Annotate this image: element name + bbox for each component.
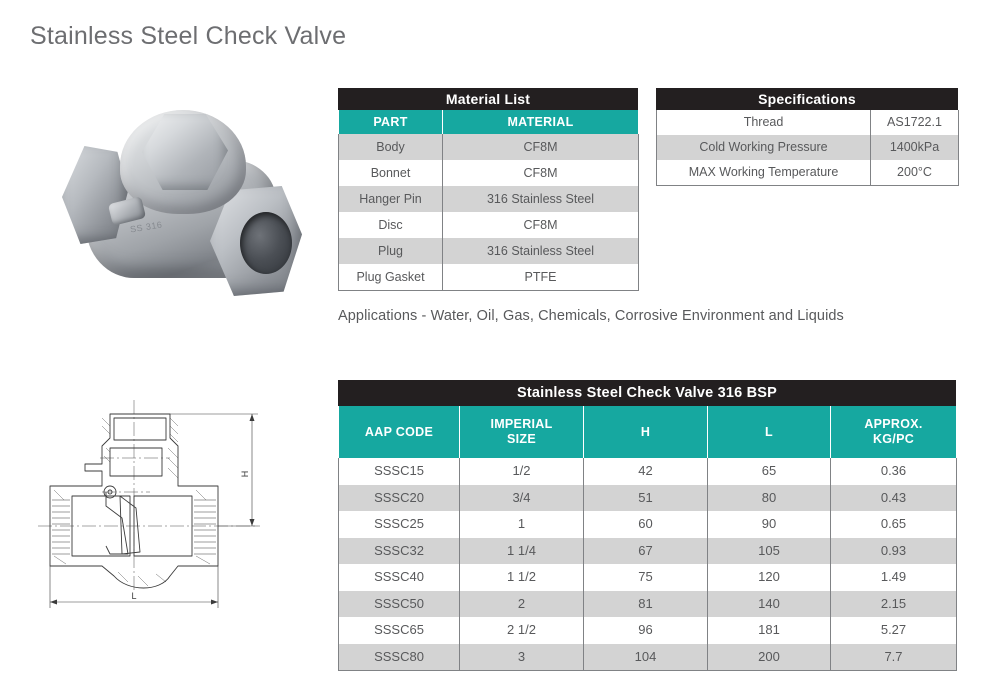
size-table-title: Stainless Steel Check Valve 316 BSP bbox=[338, 380, 956, 406]
cell-aap-code: SSSC40 bbox=[339, 564, 460, 591]
technical-drawing: H L bbox=[10, 396, 310, 646]
cell-material: CF8M bbox=[443, 160, 639, 186]
cell-kg: 0.43 bbox=[831, 485, 957, 512]
column-header-imperial-size: IMPERIAL SIZE bbox=[460, 406, 584, 458]
cell-h: 60 bbox=[584, 511, 708, 538]
material-list-table: Material List PART MATERIAL Body CF8M Bo… bbox=[338, 88, 638, 291]
cell-spec-label: MAX Working Temperature bbox=[657, 160, 871, 186]
cell-h: 96 bbox=[584, 617, 708, 644]
cell-part: Hanger Pin bbox=[339, 186, 443, 212]
size-table-header-row: AAP CODE IMPERIAL SIZE H L APPROX. KG/PC bbox=[339, 406, 957, 458]
table-row: Thread AS1722.1 bbox=[657, 110, 959, 135]
page-title: Stainless Steel Check Valve bbox=[30, 22, 346, 51]
product-datasheet-page: Stainless Steel Check Valve SS 316 bbox=[0, 0, 997, 700]
header-line-2: KG/PC bbox=[833, 432, 954, 447]
cell-spec-label: Cold Working Pressure bbox=[657, 135, 871, 160]
cell-aap-code: SSSC50 bbox=[339, 591, 460, 618]
cell-l: 181 bbox=[708, 617, 831, 644]
cell-l: 120 bbox=[708, 564, 831, 591]
header-line-2: SIZE bbox=[462, 432, 581, 447]
cell-kg: 2.15 bbox=[831, 591, 957, 618]
cell-aap-code: SSSC25 bbox=[339, 511, 460, 538]
cell-part: Plug Gasket bbox=[339, 264, 443, 291]
table-row: SSSC25 1 60 90 0.65 bbox=[339, 511, 957, 538]
material-list-header-row: PART MATERIAL bbox=[339, 110, 639, 134]
cell-imperial-size: 3/4 bbox=[460, 485, 584, 512]
material-list-title: Material List bbox=[338, 88, 638, 110]
cell-kg: 0.93 bbox=[831, 538, 957, 565]
cell-h: 75 bbox=[584, 564, 708, 591]
dimension-label-h: H bbox=[240, 471, 250, 478]
column-header-aap-code: AAP CODE bbox=[339, 406, 460, 458]
cell-part: Plug bbox=[339, 238, 443, 264]
header-line-1: APPROX. bbox=[833, 417, 954, 432]
cell-aap-code: SSSC65 bbox=[339, 617, 460, 644]
table-row: Cold Working Pressure 1400kPa bbox=[657, 135, 959, 160]
cell-aap-code: SSSC15 bbox=[339, 458, 460, 485]
cell-material: CF8M bbox=[443, 212, 639, 238]
table-row: SSSC80 3 104 200 7.7 bbox=[339, 644, 957, 671]
table-row: Body CF8M bbox=[339, 134, 639, 160]
table-row: SSSC65 2 1/2 96 181 5.27 bbox=[339, 617, 957, 644]
table-row: Plug Gasket PTFE bbox=[339, 264, 639, 291]
column-header-approx-kg-pc: APPROX. KG/PC bbox=[831, 406, 957, 458]
cell-l: 140 bbox=[708, 591, 831, 618]
valve-inlet-hex-shape bbox=[62, 146, 128, 244]
cell-l: 105 bbox=[708, 538, 831, 565]
cell-material: PTFE bbox=[443, 264, 639, 291]
cell-aap-code: SSSC80 bbox=[339, 644, 460, 671]
table-row: Plug 316 Stainless Steel bbox=[339, 238, 639, 264]
table-row: SSSC50 2 81 140 2.15 bbox=[339, 591, 957, 618]
cell-kg: 7.7 bbox=[831, 644, 957, 671]
technical-drawing-svg: H L bbox=[10, 396, 310, 646]
product-photo: SS 316 bbox=[34, 104, 324, 314]
cell-material: CF8M bbox=[443, 134, 639, 160]
cell-spec-label: Thread bbox=[657, 110, 871, 135]
cell-aap-code: SSSC32 bbox=[339, 538, 460, 565]
header-line-1: H bbox=[586, 425, 705, 440]
cell-l: 90 bbox=[708, 511, 831, 538]
cell-aap-code: SSSC20 bbox=[339, 485, 460, 512]
cell-l: 65 bbox=[708, 458, 831, 485]
cell-imperial-size: 1 bbox=[460, 511, 584, 538]
cell-imperial-size: 2 1/2 bbox=[460, 617, 584, 644]
header-line-1: IMPERIAL bbox=[462, 417, 581, 432]
table-row: Bonnet CF8M bbox=[339, 160, 639, 186]
cell-imperial-size: 1 1/4 bbox=[460, 538, 584, 565]
size-table-body: SSSC15 1/2 42 65 0.36 SSSC20 3/4 51 80 0… bbox=[339, 458, 957, 671]
table-row: SSSC32 1 1/4 67 105 0.93 bbox=[339, 538, 957, 565]
cell-h: 104 bbox=[584, 644, 708, 671]
cell-part: Body bbox=[339, 134, 443, 160]
header-line-1: L bbox=[710, 425, 828, 440]
cell-h: 42 bbox=[584, 458, 708, 485]
cell-spec-value: 1400kPa bbox=[871, 135, 959, 160]
cell-kg: 0.65 bbox=[831, 511, 957, 538]
table-row: SSSC15 1/2 42 65 0.36 bbox=[339, 458, 957, 485]
table-row: SSSC40 1 1/2 75 120 1.49 bbox=[339, 564, 957, 591]
cell-material: 316 Stainless Steel bbox=[443, 186, 639, 212]
cell-part: Disc bbox=[339, 212, 443, 238]
column-header-h: H bbox=[584, 406, 708, 458]
table-row: Disc CF8M bbox=[339, 212, 639, 238]
cell-l: 200 bbox=[708, 644, 831, 671]
header-line-1: AAP CODE bbox=[341, 425, 457, 440]
cell-part: Bonnet bbox=[339, 160, 443, 186]
applications-text: Applications - Water, Oil, Gas, Chemical… bbox=[338, 308, 844, 324]
specifications-table: Specifications Thread AS1722.1 Cold Work… bbox=[656, 88, 958, 186]
cell-kg: 5.27 bbox=[831, 617, 957, 644]
cell-material: 316 Stainless Steel bbox=[443, 238, 639, 264]
cell-spec-value: 200°C bbox=[871, 160, 959, 186]
cell-l: 80 bbox=[708, 485, 831, 512]
cell-spec-value: AS1722.1 bbox=[871, 110, 959, 135]
material-list-body: Body CF8M Bonnet CF8M Hanger Pin 316 Sta… bbox=[339, 134, 639, 291]
specifications-body: Thread AS1722.1 Cold Working Pressure 14… bbox=[657, 110, 959, 186]
specifications-title: Specifications bbox=[656, 88, 958, 110]
column-header-material: MATERIAL bbox=[443, 110, 639, 134]
size-table: Stainless Steel Check Valve 316 BSP AAP … bbox=[338, 380, 956, 671]
dimension-label-l: L bbox=[131, 591, 136, 601]
table-row: Hanger Pin 316 Stainless Steel bbox=[339, 186, 639, 212]
column-header-l: L bbox=[708, 406, 831, 458]
cell-imperial-size: 1 1/2 bbox=[460, 564, 584, 591]
cell-imperial-size: 1/2 bbox=[460, 458, 584, 485]
valve-outlet-bore bbox=[240, 212, 292, 274]
cell-kg: 0.36 bbox=[831, 458, 957, 485]
cell-h: 67 bbox=[584, 538, 708, 565]
cell-kg: 1.49 bbox=[831, 564, 957, 591]
cell-imperial-size: 2 bbox=[460, 591, 584, 618]
cell-imperial-size: 3 bbox=[460, 644, 584, 671]
column-header-part: PART bbox=[339, 110, 443, 134]
table-row: SSSC20 3/4 51 80 0.43 bbox=[339, 485, 957, 512]
cell-h: 51 bbox=[584, 485, 708, 512]
table-row: MAX Working Temperature 200°C bbox=[657, 160, 959, 186]
cell-h: 81 bbox=[584, 591, 708, 618]
